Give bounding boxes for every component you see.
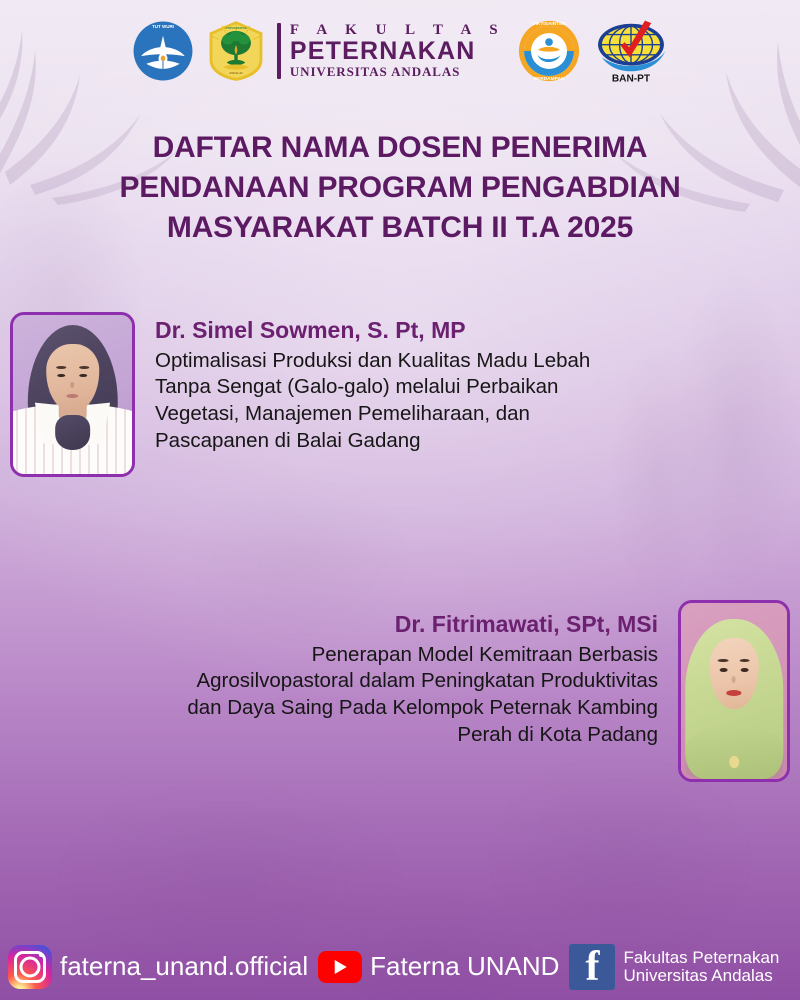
portrait-illustration-1 — [13, 315, 132, 474]
project-line: Penerapan Model Kemitraan Berbasis — [187, 642, 658, 669]
project-line: Agrosilvopastoral dalam Peningkatan Prod… — [187, 668, 658, 695]
brooch-shape — [729, 756, 739, 768]
project-line: dan Daya Saing Pada Kelompok Peternak Ka… — [187, 695, 658, 722]
diktisaintek-berdampak-logo: DIKTISAINTEK BERDAMPAK — [517, 19, 581, 83]
project-line: Tanpa Sengat (Galo-galo) melalui Perbaik… — [155, 374, 590, 401]
svg-text:TUT WURI: TUT WURI — [152, 24, 174, 29]
social-footer: faterna_unand.official Faterna UNAND f F… — [0, 938, 800, 1000]
facebook-account[interactable]: f Fakultas Peternakan Universitas Andala… — [569, 944, 779, 990]
facebook-handle: Fakultas Peternakan Universitas Andalas — [623, 949, 779, 984]
instagram-icon[interactable] — [8, 945, 52, 989]
project-line: Optimalisasi Produksi dan Kualitas Madu … — [155, 348, 590, 375]
youtube-account[interactable]: Faterna UNAND — [318, 951, 559, 983]
poster-title: DAFTAR NAMA DOSEN PENERIMA PENDANAAN PRO… — [0, 128, 800, 248]
facebook-handle-line-1: Fakultas Peternakan — [623, 949, 779, 967]
diktisaintek-bottom-text: BERDAMPAK — [534, 76, 565, 82]
lecturer-1-project: Optimalisasi Produksi dan Kualitas Madu … — [155, 348, 590, 455]
svg-text:ANDALAS: ANDALAS — [229, 71, 243, 75]
lecturer-1-name: Dr. Simel Sowmen, S. Pt, MP — [155, 316, 590, 345]
portrait-illustration-2 — [681, 603, 787, 779]
facebook-f-glyph: f — [585, 946, 599, 988]
eyebrow-left — [718, 659, 728, 662]
ban-pt-label: BAN-PT — [612, 73, 651, 84]
project-line: Perah di Kota Padang — [187, 722, 658, 749]
title-line-3: MASYARAKAT BATCH II T.A 2025 — [0, 208, 800, 248]
lecturer-2-project: Penerapan Model Kemitraan Berbasis Agros… — [187, 642, 658, 749]
lecturer-1-text: Dr. Simel Sowmen, S. Pt, MP Optimalisasi… — [155, 312, 590, 454]
eye-right — [79, 374, 87, 378]
instagram-handle: faterna_unand.official — [60, 953, 308, 980]
faculty-wordmark: F A K U L T A S PETERNAKAN UNIVERSITAS A… — [277, 20, 505, 82]
photo-fitrimawati — [678, 600, 790, 782]
facebook-handle-line-2: Universitas Andalas — [623, 967, 779, 985]
instagram-dot — [39, 953, 43, 957]
eye-right — [741, 668, 749, 672]
eyebrow-left — [56, 366, 66, 369]
header-logo-bar: TUT WURI UNIVERSITAS ANDALAS F A — [0, 12, 800, 90]
ban-pt-logo: BAN-PT — [593, 18, 669, 84]
wordmark-line-universitas: UNIVERSITAS ANDALAS — [290, 64, 505, 80]
youtube-handle: Faterna UNAND — [370, 953, 559, 980]
photo-simel-sowmen — [10, 312, 135, 477]
nose-shape — [70, 382, 74, 388]
project-line: Pascapanen di Balai Gadang — [155, 428, 590, 455]
eyebrow-right — [740, 659, 750, 662]
universitas-andalas-logo: UNIVERSITAS ANDALAS — [207, 20, 265, 82]
eye-left — [719, 668, 727, 672]
eyebrow-right — [79, 366, 89, 369]
youtube-icon[interactable] — [318, 951, 362, 983]
mouth-shape — [67, 394, 79, 398]
nose-shape — [732, 676, 736, 683]
lecturer-entry-1: Dr. Simel Sowmen, S. Pt, MP Optimalisasi… — [10, 312, 590, 477]
project-line: Vegetasi, Manajemen Pemeliharaan, dan — [155, 401, 590, 428]
scarf-tie-shape — [55, 415, 91, 450]
eye-left — [57, 374, 65, 378]
wordmark-line-peternakan: PETERNAKAN — [290, 39, 505, 64]
lecturer-entry-2: Dr. Fitrimawati, SPt, MSi Penerapan Mode… — [187, 600, 790, 782]
instagram-lens — [20, 957, 41, 978]
lecturer-2-text: Dr. Fitrimawati, SPt, MSi Penerapan Mode… — [187, 600, 658, 748]
facebook-icon[interactable]: f — [569, 944, 615, 990]
wordmark-divider — [277, 23, 281, 79]
poster-canvas: TUT WURI UNIVERSITAS ANDALAS F A — [0, 0, 800, 1000]
title-line-2: PENDANAAN PROGRAM PENGABDIAN — [0, 168, 800, 208]
mouth-shape — [727, 690, 742, 696]
instagram-account[interactable]: faterna_unand.official — [8, 945, 308, 989]
title-line-1: DAFTAR NAMA DOSEN PENERIMA — [0, 128, 800, 168]
tut-wuri-handayani-logo: TUT WURI — [131, 19, 195, 83]
youtube-play-triangle — [335, 960, 347, 974]
lecturer-2-name: Dr. Fitrimawati, SPt, MSi — [187, 610, 658, 639]
diktisaintek-top-text: DIKTISAINTEK — [532, 21, 566, 27]
svg-text:UNIVERSITAS: UNIVERSITAS — [225, 26, 246, 30]
